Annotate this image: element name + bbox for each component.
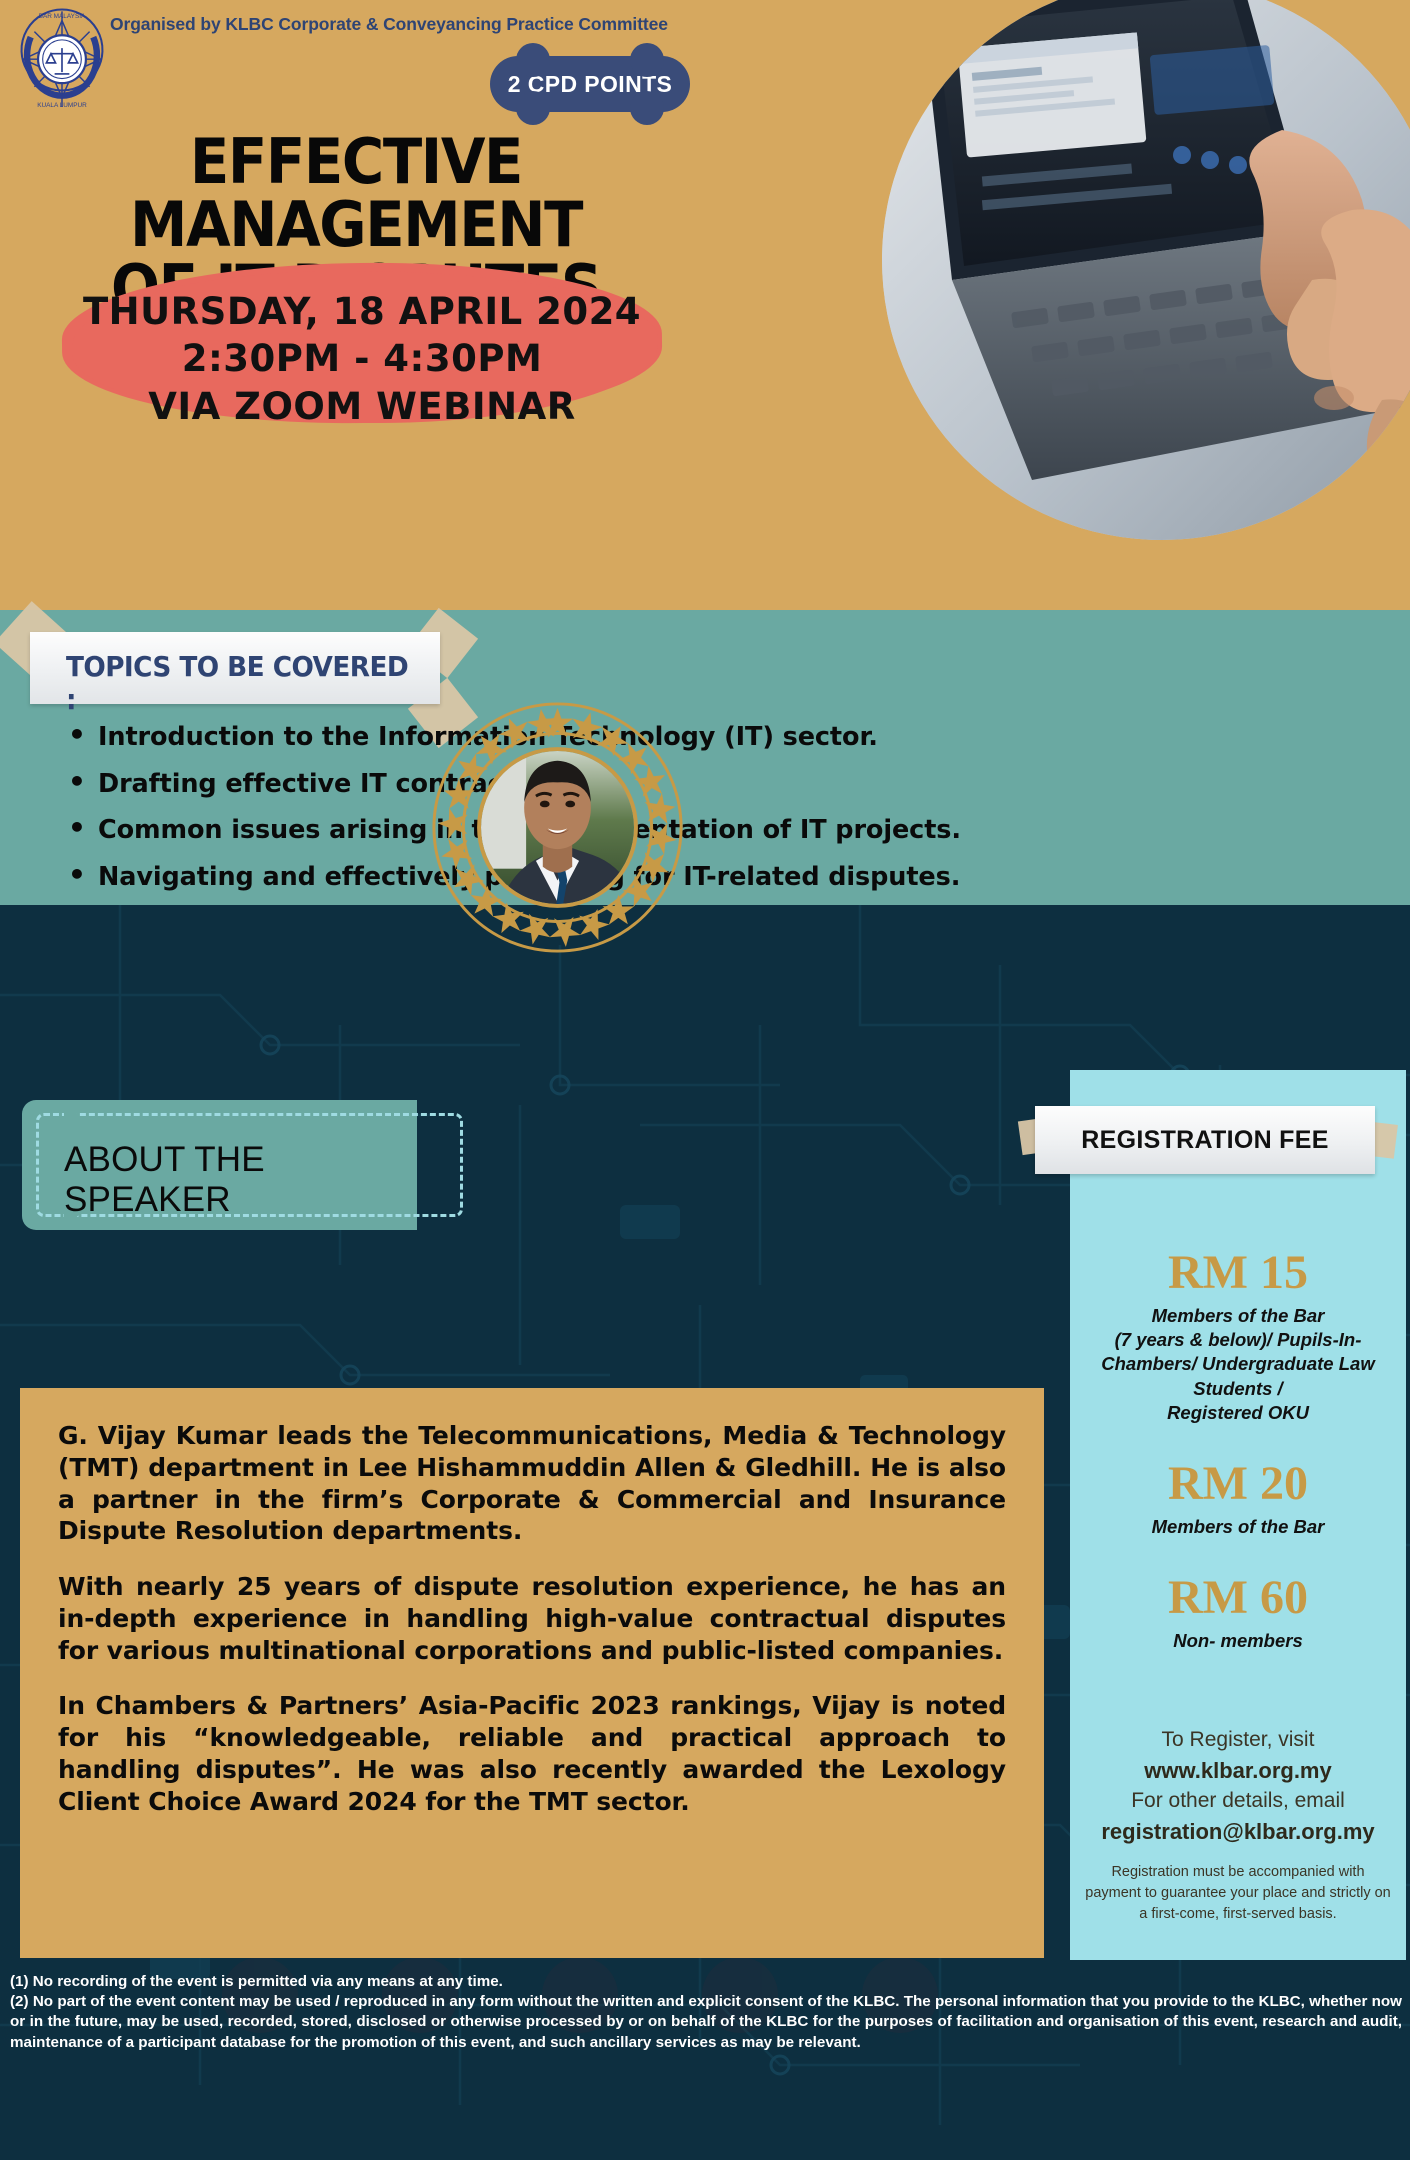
registration-email-link[interactable]: registration@klbar.org.my <box>1070 1816 1406 1847</box>
logo-svg: BAR MALAYSIA KUALA LUMPUR <box>16 4 108 114</box>
title-line-1: EFFECTIVE MANAGEMENT <box>130 125 582 261</box>
organiser-line: Organised by KLBC Corporate & Conveyanci… <box>110 14 680 35</box>
speaker-bio-box: G. Vijay Kumar leads the Telecommunicati… <box>20 1388 1044 1958</box>
bio-paragraph-1: G. Vijay Kumar leads the Telecommunicati… <box>58 1420 1006 1547</box>
registration-contact: To Register, visit www.klbar.org.my For … <box>1070 1725 1406 1847</box>
header-section: BAR MALAYSIA KUALA LUMPUR Organised by K… <box>0 0 1410 610</box>
event-time: 2:30PM - 4:30PM <box>62 335 662 382</box>
fee-tier: RM 60 Non- members <box>1080 1573 1396 1653</box>
list-item: Introduction to the Information Technolo… <box>60 725 1360 751</box>
list-item: Drafting effective IT contracts. <box>60 772 1360 798</box>
badge-lobe-right <box>630 91 664 125</box>
medal-svg <box>430 700 685 955</box>
register-prompt: To Register, visit <box>1070 1725 1406 1755</box>
about-the-speaker-banner: ABOUT THE SPEAKER <box>22 1100 417 1230</box>
fee-tier: RM 20 Members of the Bar <box>1080 1459 1396 1539</box>
cpd-points-badge: 2 CPD POINTS <box>490 56 690 112</box>
event-date: THURSDAY, 18 APRIL 2024 <box>62 288 662 335</box>
event-datetime: THURSDAY, 18 APRIL 2024 2:30PM - 4:30PM … <box>62 288 662 430</box>
footer-disclaimer: (1) No recording of the event is permitt… <box>10 1972 1402 2053</box>
fee-description: Non- members <box>1080 1629 1396 1653</box>
fee-description: Members of the Bar <box>1080 1515 1396 1539</box>
bar-council-logo: BAR MALAYSIA KUALA LUMPUR <box>16 4 108 114</box>
registration-fee-heading: REGISTRATION FEE <box>1081 1126 1328 1155</box>
speaker-portrait-medal <box>430 700 685 955</box>
topics-list: Introduction to the Information Technolo… <box>60 725 1360 911</box>
list-item: Navigating and effectively preparing for… <box>60 865 1360 891</box>
registration-website-link[interactable]: www.klbar.org.my <box>1070 1755 1406 1786</box>
topics-heading-banner: TOPICS TO BE COVERED : <box>30 632 440 704</box>
fee-amount: RM 15 <box>1080 1248 1396 1298</box>
footer-line-2: (2) No part of the event content may be … <box>10 1993 1402 2050</box>
fee-amount: RM 60 <box>1080 1573 1396 1623</box>
svg-text:BAR MALAYSIA: BAR MALAYSIA <box>39 13 86 20</box>
svg-text:KUALA LUMPUR: KUALA LUMPUR <box>37 102 87 109</box>
registration-fee-banner: REGISTRATION FEE <box>1035 1106 1375 1174</box>
fee-description: Members of the Bar (7 years & below)/ Pu… <box>1080 1304 1396 1424</box>
fee-tier: RM 15 Members of the Bar (7 years & belo… <box>1080 1248 1396 1425</box>
fee-amount: RM 20 <box>1080 1459 1396 1509</box>
bio-paragraph-2: With nearly 25 years of dispute resoluti… <box>58 1571 1006 1666</box>
footer-line-1: (1) No recording of the event is permitt… <box>10 1972 1402 1992</box>
laptop-photo <box>882 0 1410 540</box>
event-poster: BAR MALAYSIA KUALA LUMPUR Organised by K… <box>0 0 1410 2160</box>
registration-fee-list: RM 15 Members of the Bar (7 years & belo… <box>1070 1248 1406 1654</box>
event-platform: VIA ZOOM WEBINAR <box>62 383 662 430</box>
about-the-speaker-label: ABOUT THE SPEAKER <box>64 1140 417 1220</box>
badge-lobe-left <box>516 91 550 125</box>
registration-note: Registration must be accompanied with pa… <box>1082 1862 1394 1925</box>
topics-heading: TOPICS TO BE COVERED : <box>66 650 418 716</box>
list-item: Common issues arising in the implementat… <box>60 818 1360 844</box>
laptop-illustration <box>882 0 1410 540</box>
email-prompt: For other details, email <box>1070 1786 1406 1816</box>
bio-paragraph-3: In Chambers & Partners’ Asia-Pacific 202… <box>58 1690 1006 1817</box>
